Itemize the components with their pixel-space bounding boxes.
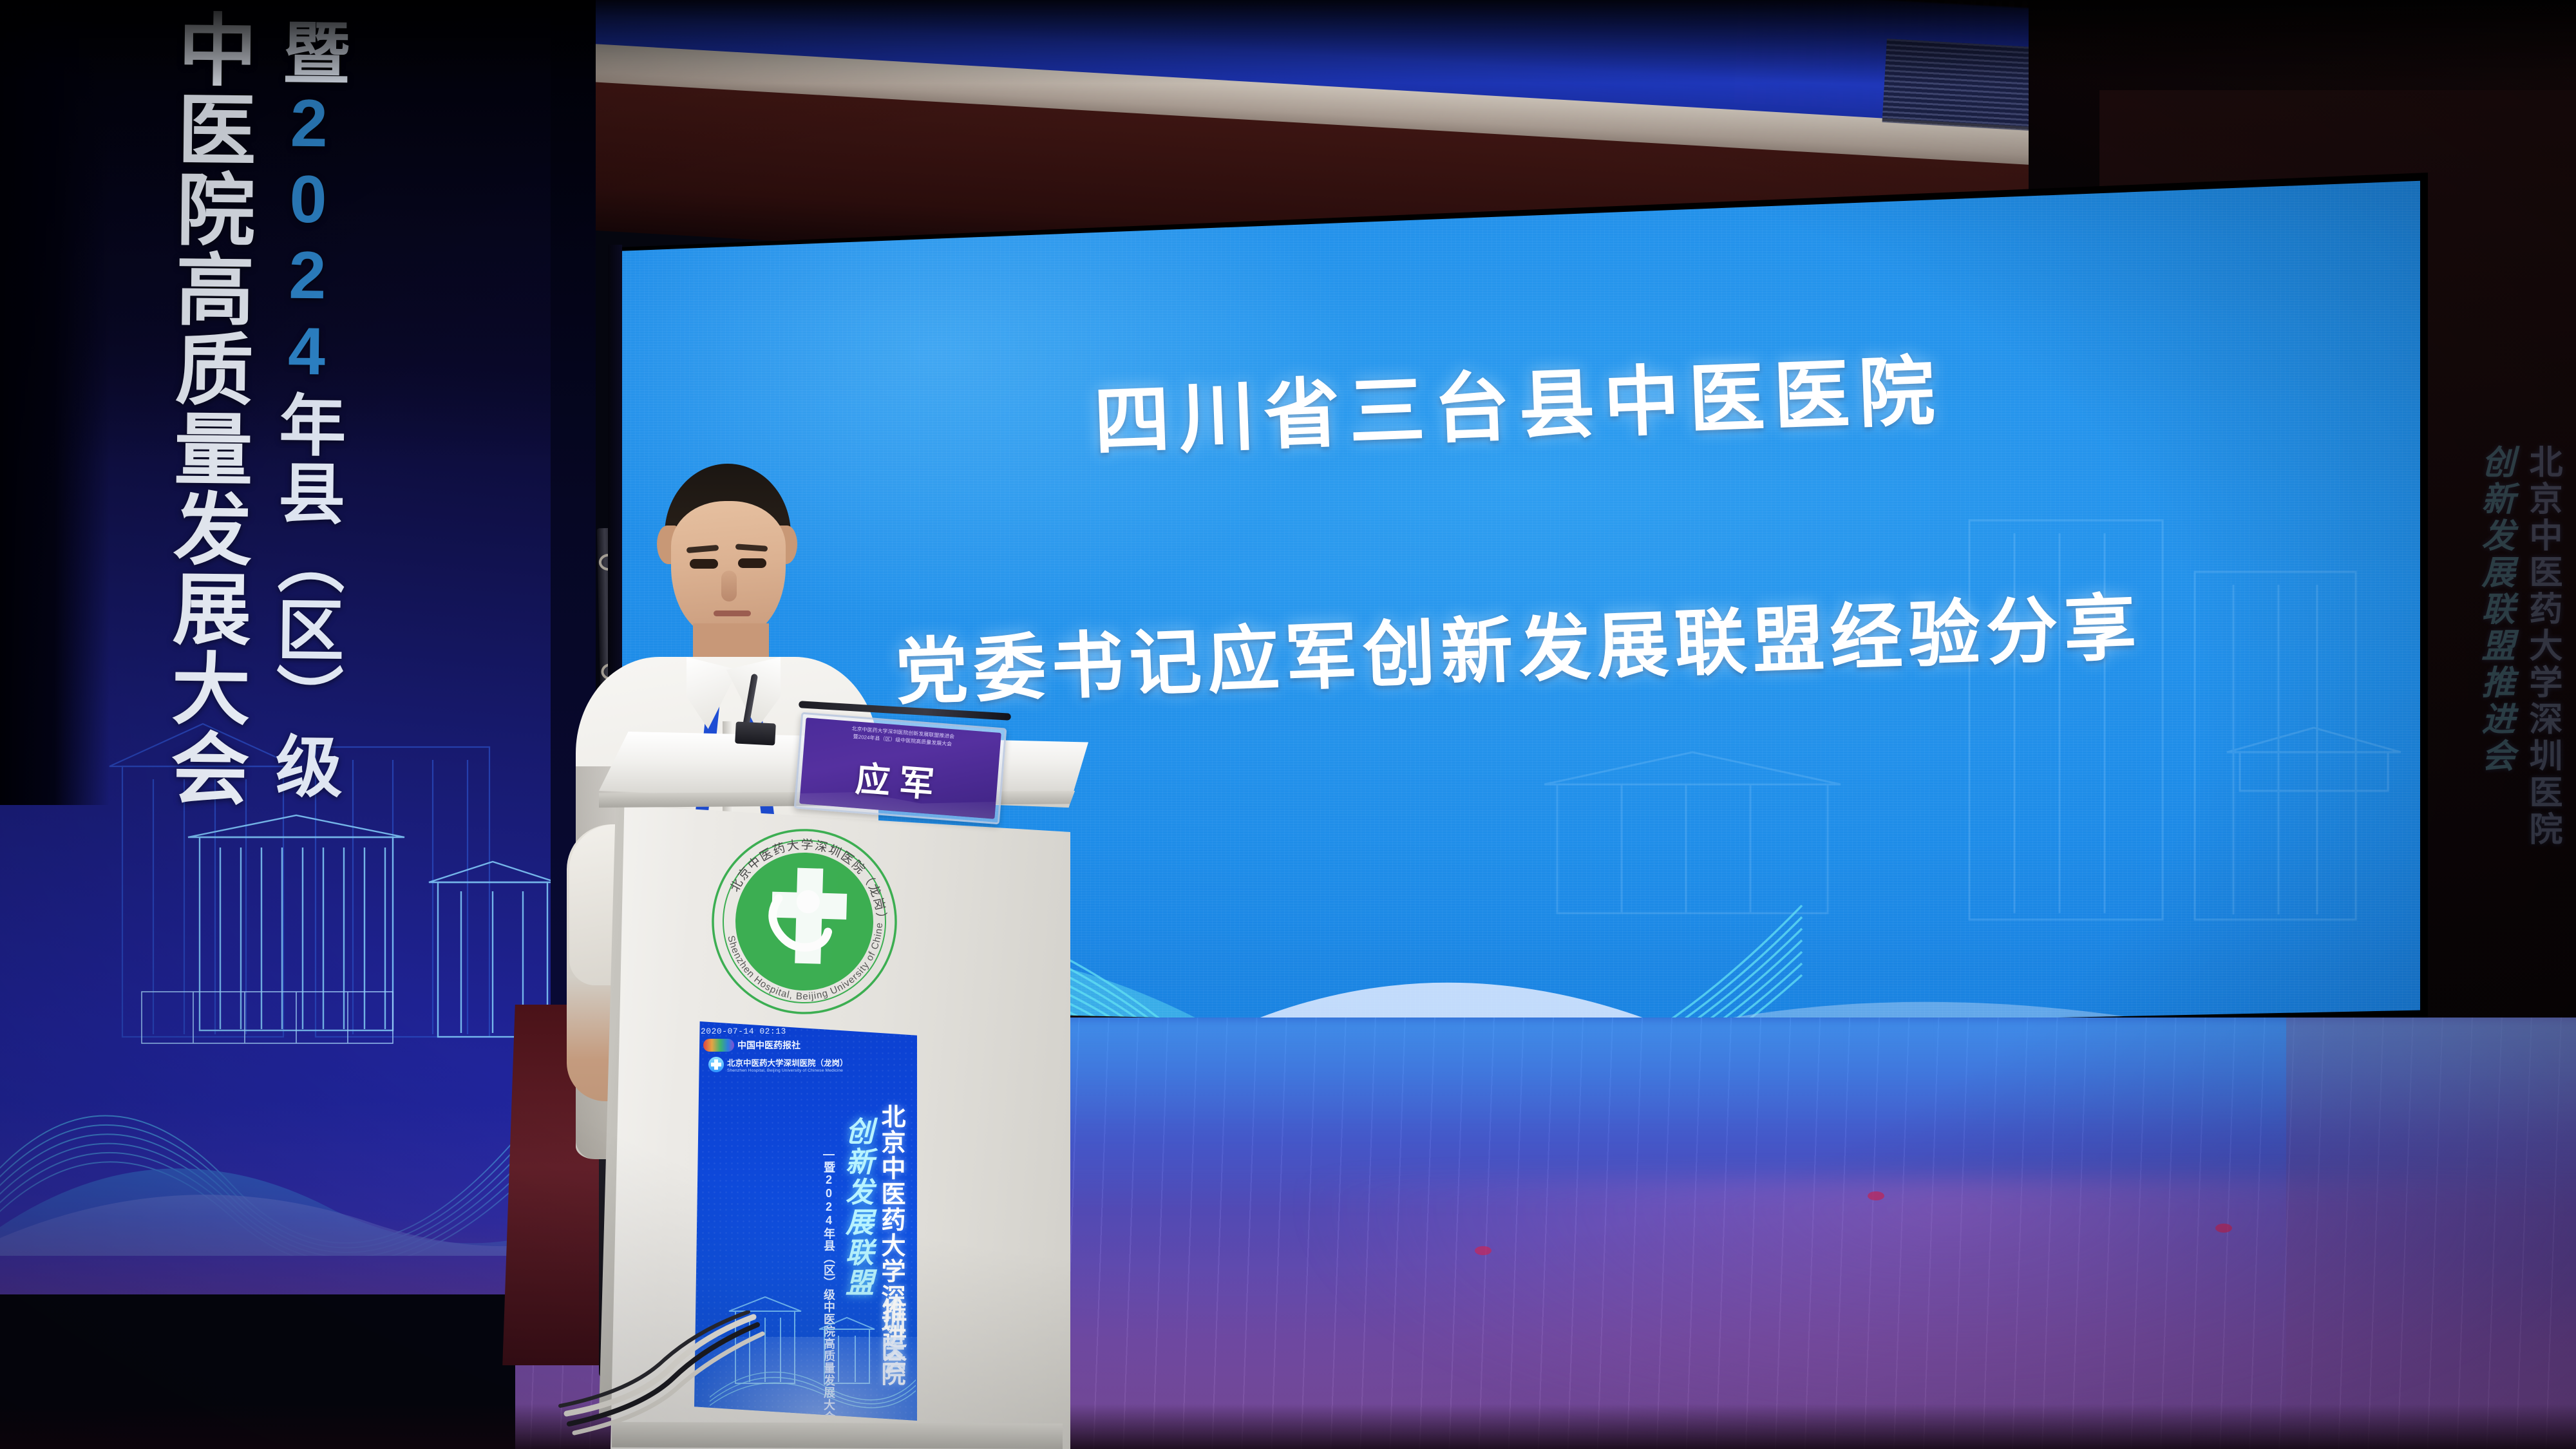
left-led-banner-wall: 中医院高质量发展大会 暨2024年县（区）级 (0, 0, 567, 1294)
speaker-eye-right (738, 558, 766, 568)
left-banner-sub-text: 暨2024年县（区）级 (267, 17, 345, 800)
left-banner-main-text: 中医院高质量发展大会 (162, 8, 252, 808)
sponsor-logo-1: 中国中医药报社 (703, 1037, 832, 1054)
left-wall-edge-shadow (0, 0, 109, 805)
speaker-nose (721, 571, 737, 601)
sponsor-1-label: 中国中医药报社 (737, 1039, 800, 1052)
speaker-eye-left (690, 559, 718, 569)
sponsor-2-label-en: Shenzhen Hospital, Beijing University of… (727, 1068, 848, 1073)
floor-marker-dot (2215, 1224, 2232, 1233)
left-wall-bottom-light-wash (0, 1101, 567, 1294)
floor-red-light-wash (2286, 1018, 2576, 1449)
left-banner-sub-suffix: 年县（区）级 (265, 390, 344, 800)
right-banner-line-1: 北京中医药大学深圳医院 (2519, 444, 2559, 848)
microphone-base-unit (735, 721, 776, 745)
nameplate-card: 北京中医药大学深圳医院创新发展联盟推进会 暨2024年县（区）级中医院高质量发展… (799, 717, 1001, 819)
podium-headline-accent: 创新发展联盟 (842, 1117, 871, 1298)
floor-marker-dot (1475, 1246, 1492, 1255)
left-banner-year: 2024 (269, 86, 346, 390)
floor-front-shadow (0, 1404, 2576, 1449)
hospital-logo-icon: Shenzhen Hospital, Beijing University of… (708, 826, 900, 1018)
floor-marker-dot (1868, 1191, 1884, 1200)
speaker-mouth (714, 611, 751, 616)
sponsor-1-mark-icon (703, 1039, 734, 1052)
sponsor-logo-2: 北京中医药大学深圳医院（龙岗） Shenzhen Hospital, Beiji… (708, 1056, 876, 1073)
right-banner-line-2: 创新发展联盟推进会 (2472, 444, 2512, 775)
floor-cables (541, 1311, 773, 1439)
left-banner-sub-prefix: 暨 (272, 17, 347, 86)
sponsor-2-cross-icon (708, 1057, 724, 1072)
podium-screen-timestamp: 2020-07-14 02:13 (701, 1027, 786, 1036)
nameplate: 北京中医药大学深圳医院创新发展联盟推进会 暨2024年县（区）级中医院高质量发展… (794, 712, 1007, 825)
conference-stage-photo: 北京中医药大学深圳医院 创新发展联盟推进会 (0, 0, 2576, 1449)
speaker-face (671, 501, 786, 638)
right-wall-vertical-banner: 北京中医药大学深圳医院 创新发展联盟推进会 (2434, 444, 2563, 947)
sponsor-2-label-cn: 北京中医药大学深圳医院（龙岗） (727, 1056, 848, 1068)
